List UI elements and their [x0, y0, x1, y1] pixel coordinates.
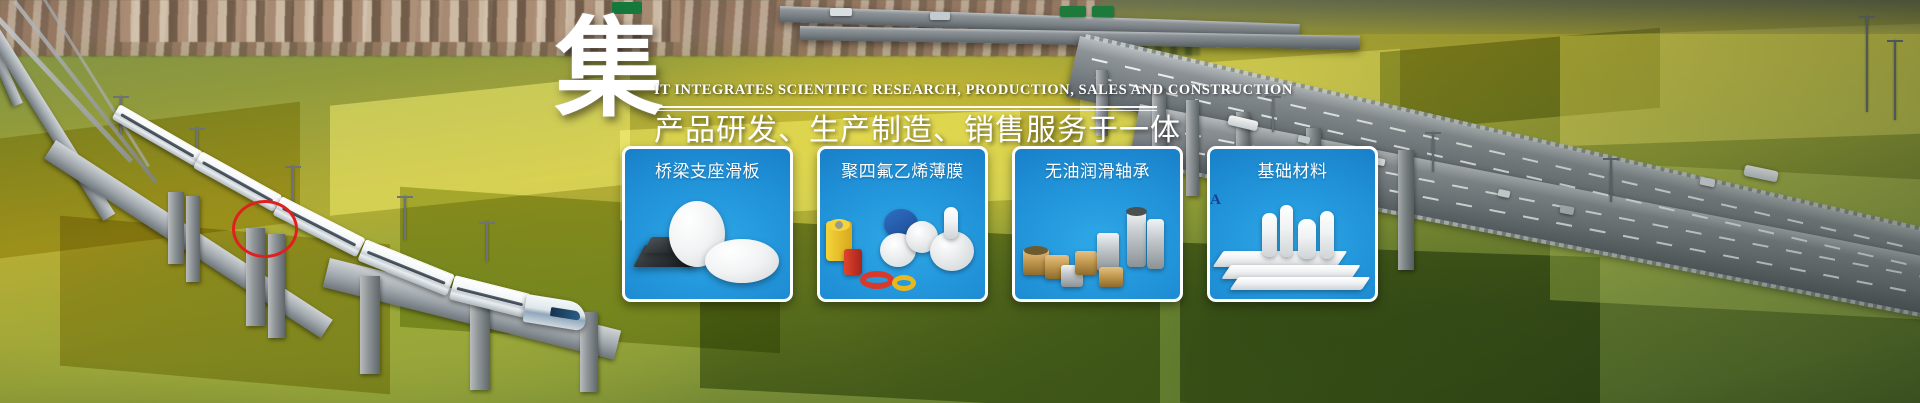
tape-ring-yellow: [892, 275, 916, 291]
chinese-tagline: 产品研发、生产制造、销售服务于一体: [654, 112, 1184, 150]
steel-sleeve-long: [1127, 211, 1146, 267]
product-card-title: 聚四氟乙烯薄膜: [820, 162, 985, 182]
bushing-bore: [1126, 207, 1147, 216]
product-card-artwork: [820, 193, 985, 299]
ptfe-rod: [1320, 211, 1334, 259]
product-card-artwork: [625, 193, 790, 299]
product-card-title: 无油润滑轴承: [1015, 162, 1180, 182]
divider-rule: [654, 106, 1157, 111]
bronze-bushing: [1099, 267, 1123, 287]
product-card-artwork: [1015, 193, 1180, 299]
bronze-bushing: [1075, 251, 1097, 275]
product-card-title: 桥梁支座滑板: [625, 162, 790, 182]
product-card-title: 基础材料: [1210, 162, 1375, 182]
big-character-ji: 集: [555, 16, 663, 124]
product-label-letter: A: [1210, 193, 1221, 208]
product-card-row: 桥梁支座滑板 聚四氟乙烯薄膜: [622, 146, 1378, 302]
product-card-bridge-bearing-slider[interactable]: 桥梁支座滑板: [622, 146, 793, 302]
product-card-artwork: A: [1210, 193, 1375, 299]
hero-banner: 集 IT INTEGRATES SCIENTIFIC RESEARCH, PRO…: [0, 0, 1920, 403]
film-roll-core: [828, 219, 850, 231]
product-card-oilless-bearing[interactable]: 无油润滑轴承: [1012, 146, 1183, 302]
film-roll-red: [844, 249, 862, 275]
product-card-base-material[interactable]: 基础材料 A: [1207, 146, 1378, 302]
ptfe-sheet: [1230, 277, 1371, 290]
english-tagline: IT INTEGRATES SCIENTIFIC RESEARCH, PRODU…: [654, 82, 1174, 99]
ptfe-rod: [944, 207, 958, 239]
ptfe-disc: [705, 239, 779, 283]
bushing-bore: [1024, 246, 1048, 255]
tape-ring-red: [860, 271, 894, 289]
steel-sleeve-long: [1147, 219, 1164, 269]
product-card-ptfe-film[interactable]: 聚四氟乙烯薄膜: [817, 146, 988, 302]
steel-bushing-tall: [1097, 233, 1119, 271]
headline-block: 集 IT INTEGRATES SCIENTIFIC RESEARCH, PRO…: [555, 22, 1175, 142]
ptfe-rod: [1280, 205, 1293, 257]
ptfe-rod: [1262, 213, 1277, 257]
ptfe-tube: [1298, 219, 1316, 259]
